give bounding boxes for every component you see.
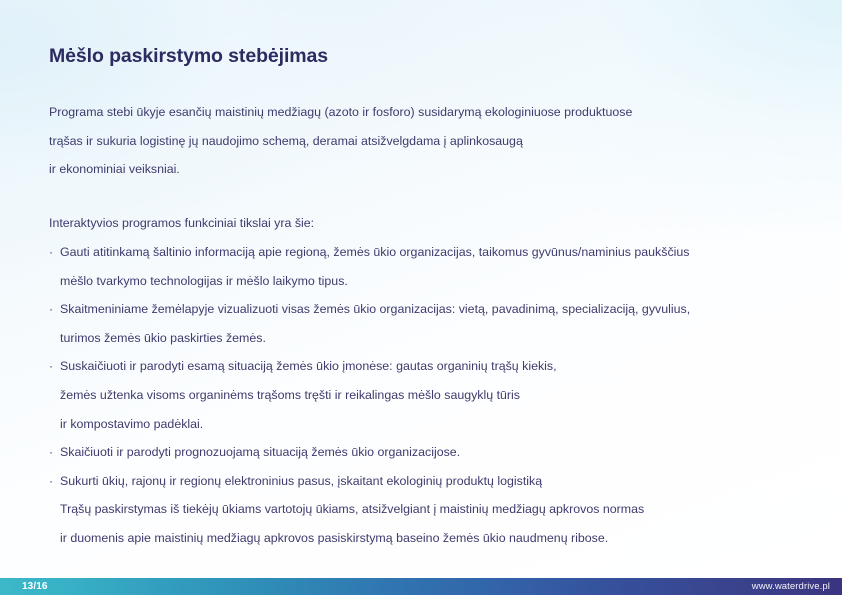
intro-paragraph: Programa stebi ūkyje esančių maistinių m… [49, 98, 632, 184]
list-item-continuation: mėšlo tvarkymo technologijas ir mėšlo la… [49, 267, 690, 296]
list-item-text: Suskaičiuoti ir parodyti esamą situaciją… [60, 359, 557, 373]
list-item-text: Sukurti ūkių, rajonų ir regionų elektron… [60, 474, 542, 488]
page-number-indicator: 13/16 [22, 578, 48, 595]
slide-canvas: Mėšlo paskirstymo stebėjimas Programa st… [0, 0, 842, 595]
list-item-continuation: turimos žemės ūkio paskirties žemės. [49, 324, 690, 353]
list-item-text: Skaičiuoti ir parodyti prognozuojamą sit… [60, 445, 460, 459]
intro-line: Programa stebi ūkyje esančių maistinių m… [49, 98, 632, 127]
bullet-marker-icon: · [49, 352, 53, 381]
list-item-text: Gauti atitinkamą šaltinio informaciją ap… [60, 245, 689, 259]
goals-intro-paragraph: Interaktyvios programos funkciniai tiksl… [49, 209, 314, 238]
slide-content: Mėšlo paskirstymo stebėjimas Programa st… [0, 0, 842, 578]
footer-website-link[interactable]: www.waterdrive.pl [752, 578, 830, 595]
list-item-continuation: žemės užtenka visoms organinėms trąšoms … [49, 381, 690, 410]
list-item-text: Skaitmeniniame žemėlapyje vizualizuoti v… [60, 302, 690, 316]
intro-line: trąšas ir sukuria logistinę jų naudojimo… [49, 127, 632, 156]
list-item-continuation: ir duomenis apie maistinių medžiagų apkr… [49, 524, 690, 553]
goals-bullet-list: · Gauti atitinkamą šaltinio informaciją … [49, 238, 690, 553]
bullet-marker-icon: · [49, 295, 53, 324]
list-item: · Gauti atitinkamą šaltinio informaciją … [49, 238, 690, 267]
list-item: · Skaičiuoti ir parodyti prognozuojamą s… [49, 438, 690, 467]
bullet-marker-icon: · [49, 467, 53, 496]
list-item: · Skaitmeniniame žemėlapyje vizualizuoti… [49, 295, 690, 324]
list-item: · Sukurti ūkių, rajonų ir regionų elektr… [49, 467, 690, 496]
intro-line: ir ekonominiai veiksniai. [49, 155, 632, 184]
bullet-marker-icon: · [49, 238, 53, 267]
footer-bar: 13/16 www.waterdrive.pl [0, 578, 842, 595]
page-title: Mėšlo paskirstymo stebėjimas [49, 45, 328, 68]
bullet-marker-icon: · [49, 438, 53, 467]
goals-intro-text: Interaktyvios programos funkciniai tiksl… [49, 209, 314, 238]
list-item: · Suskaičiuoti ir parodyti esamą situaci… [49, 352, 690, 381]
list-item-continuation: ir kompostavimo padėklai. [49, 410, 690, 439]
list-item-continuation: Trąšų paskirstymas iš tiekėjų ūkiams var… [49, 495, 690, 524]
